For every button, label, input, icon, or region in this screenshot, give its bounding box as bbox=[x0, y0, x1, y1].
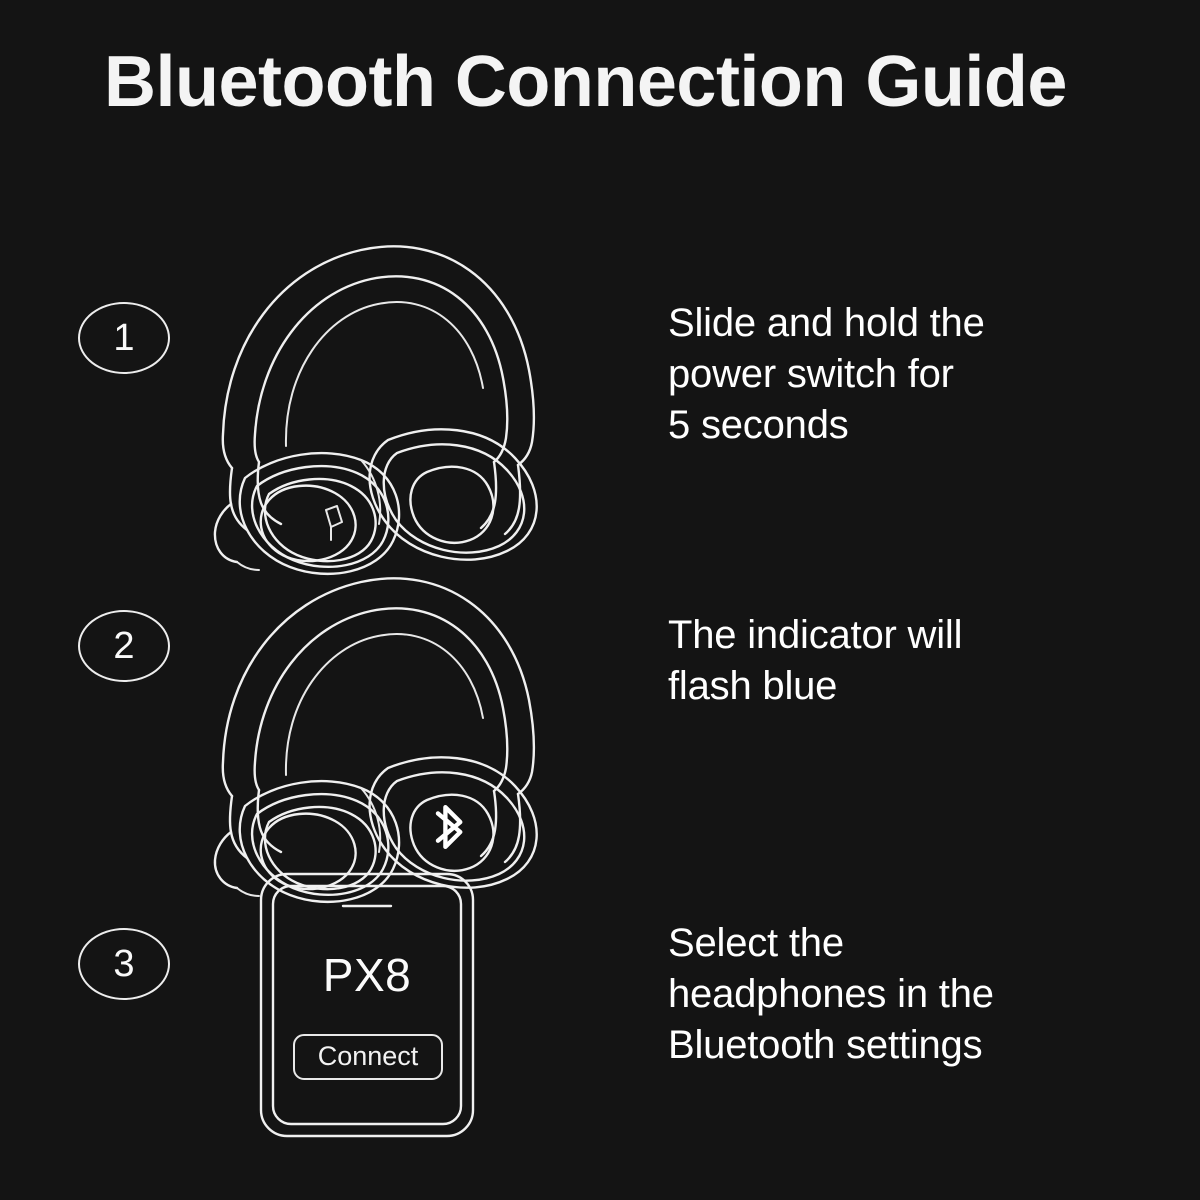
phone-screen bbox=[273, 886, 461, 1124]
phone-body bbox=[261, 874, 473, 1136]
step-number-badge-1: 1 bbox=[78, 302, 170, 374]
step-1: 1 bbox=[0, 210, 1200, 550]
step-2: 2 bbox=[0, 548, 1200, 878]
headphones-illustration-2 bbox=[185, 548, 575, 878]
step-description-3: Select the headphones in the Bluetooth s… bbox=[668, 918, 1138, 1072]
phone-illustration: PX8 Connect bbox=[185, 866, 575, 1156]
step-description-1: Slide and hold the power switch for 5 se… bbox=[668, 298, 1138, 452]
headphones-illustration-1 bbox=[185, 210, 575, 550]
phone-device-name: PX8 bbox=[323, 949, 411, 1001]
step-description-2: The indicator will flash blue bbox=[668, 610, 1138, 712]
step-3: 3 PX8 Connect Select the headphones in t… bbox=[0, 866, 1200, 1156]
bluetooth-icon bbox=[438, 807, 460, 847]
connect-button-label: Connect bbox=[318, 1041, 419, 1071]
page-title: Bluetooth Connection Guide bbox=[104, 46, 1104, 119]
bluetooth-connection-guide-poster: Bluetooth Connection Guide 1 bbox=[0, 0, 1200, 1200]
step-number-badge-3: 3 bbox=[78, 928, 170, 1000]
power-switch-icon bbox=[326, 506, 342, 540]
step-number-badge-2: 2 bbox=[78, 610, 170, 682]
